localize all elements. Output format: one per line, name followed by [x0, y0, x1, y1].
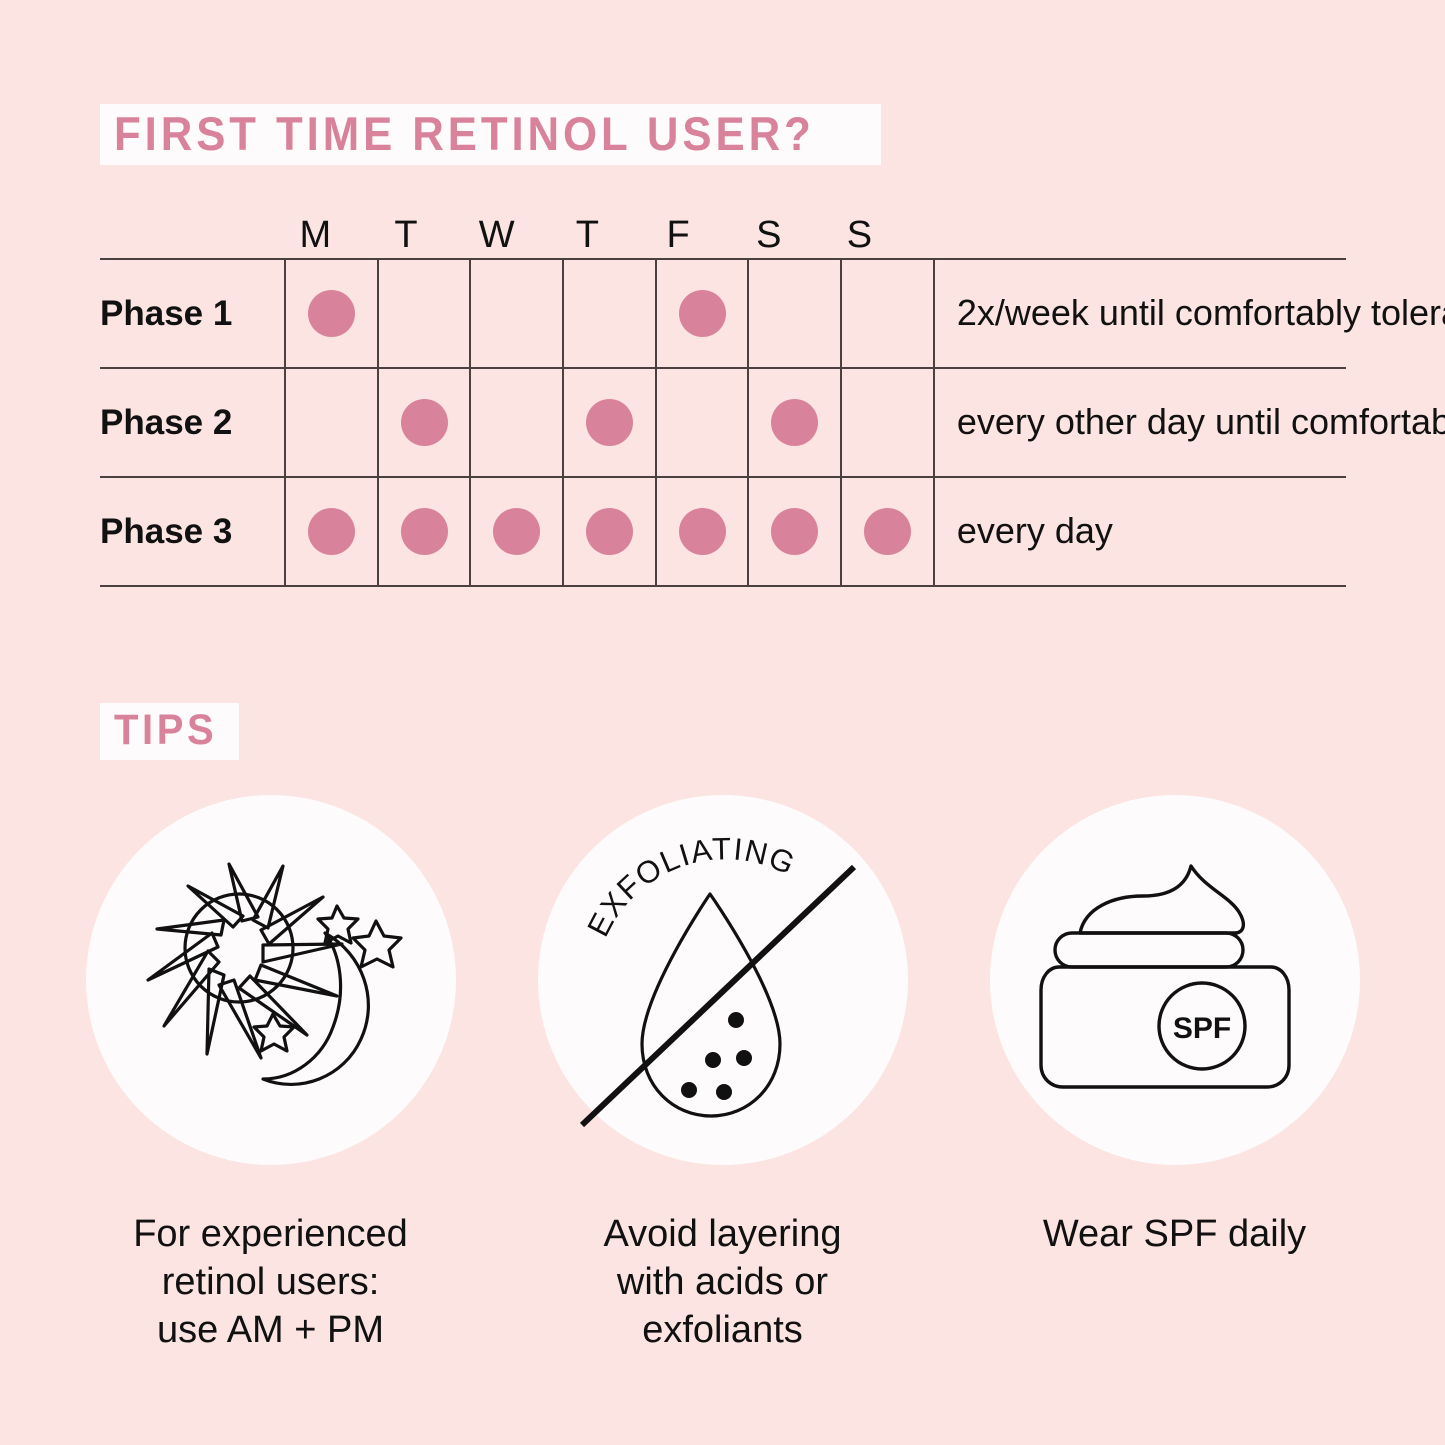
table-row: Phase 1 2x/week until comfortably tolera…	[100, 259, 1346, 368]
schedule-cell	[563, 477, 656, 586]
dot-marker	[401, 399, 448, 446]
schedule-cell	[378, 477, 471, 586]
dot-marker	[771, 399, 818, 446]
day-header-sat: S	[723, 216, 814, 258]
tip-avoid-exfoliants: EXFOLIATING Avoid layering with acids or…	[533, 795, 913, 1355]
phase-label: Phase 2	[100, 368, 285, 477]
schedule-cell	[748, 259, 841, 368]
dot-marker	[308, 290, 355, 337]
day-header-thu: T	[542, 216, 633, 258]
no-exfoliating-droplet-icon: EXFOLIATING	[558, 815, 888, 1145]
schedule-table: Phase 1 2x/week until comfortably tolera…	[100, 258, 1346, 587]
schedule-cell	[748, 477, 841, 586]
phase-label: Phase 1	[100, 259, 285, 368]
tips-row: For experienced retinol users: use AM + …	[0, 795, 1445, 1355]
dot-marker	[679, 290, 726, 337]
tips-title-text: TIPS	[114, 709, 217, 752]
retinol-schedule: M T W T F S S Phase 1 2x/week until comf…	[100, 196, 1346, 587]
day-header-wed: W	[451, 216, 542, 258]
page-title: FIRST TIME RETINOL USER?	[100, 104, 881, 165]
dot-marker	[771, 508, 818, 555]
dot-marker	[308, 508, 355, 555]
schedule-cell	[285, 477, 378, 586]
schedule-cell	[378, 368, 471, 477]
dot-marker	[679, 508, 726, 555]
sun-moon-stars-icon	[111, 820, 431, 1140]
schedule-cell	[841, 259, 934, 368]
schedule-cell	[285, 259, 378, 368]
schedule-cell	[748, 368, 841, 477]
day-header-sun: S	[814, 216, 905, 258]
tip-caption: Avoid layering with acids or exfoliants	[603, 1211, 841, 1355]
schedule-cell	[841, 477, 934, 586]
tip-icon-circle: EXFOLIATING	[538, 795, 908, 1165]
schedule-cell	[656, 259, 749, 368]
schedule-cell	[285, 368, 378, 477]
spf-badge-label: SPF	[1172, 1012, 1230, 1045]
table-row: Phase 2 every other day until comfortabl…	[100, 368, 1346, 477]
tip-icon-circle: SPF	[990, 795, 1360, 1165]
dot-marker	[586, 399, 633, 446]
schedule-cell	[470, 477, 563, 586]
dot-marker	[493, 508, 540, 555]
tip-caption: Wear SPF daily	[1043, 1211, 1306, 1259]
dot-marker	[586, 508, 633, 555]
phase-description: every other day until comfortably tolera…	[934, 368, 1346, 477]
table-row: Phase 3 every day	[100, 477, 1346, 586]
phase-label: Phase 3	[100, 477, 285, 586]
day-header-tue: T	[361, 216, 452, 258]
dot-marker	[401, 508, 448, 555]
schedule-cell	[841, 368, 934, 477]
tip-icon-circle	[86, 795, 456, 1165]
day-header-fri: F	[633, 216, 724, 258]
page-title-text: FIRST TIME RETINOL USER?	[114, 110, 815, 157]
day-header-mon: M	[270, 216, 361, 258]
schedule-cell	[563, 259, 656, 368]
schedule-cell	[656, 477, 749, 586]
phase-description: 2x/week until comfortably tolerated	[934, 259, 1346, 368]
dot-marker	[864, 508, 911, 555]
tip-am-pm: For experienced retinol users: use AM + …	[81, 795, 461, 1355]
schedule-cell	[378, 259, 471, 368]
schedule-cell	[470, 368, 563, 477]
droplet-specks	[681, 1012, 752, 1100]
phase-description: every day	[934, 477, 1346, 586]
tip-caption: For experienced retinol users: use AM + …	[133, 1211, 408, 1355]
day-header-row: M T W T F S S	[100, 196, 1346, 258]
tip-wear-spf: SPF Wear SPF daily	[985, 795, 1365, 1355]
schedule-cell	[470, 259, 563, 368]
tips-title: TIPS	[100, 703, 239, 760]
schedule-cell	[656, 368, 749, 477]
schedule-cell	[563, 368, 656, 477]
spf-cream-jar-icon: SPF	[1025, 830, 1325, 1130]
